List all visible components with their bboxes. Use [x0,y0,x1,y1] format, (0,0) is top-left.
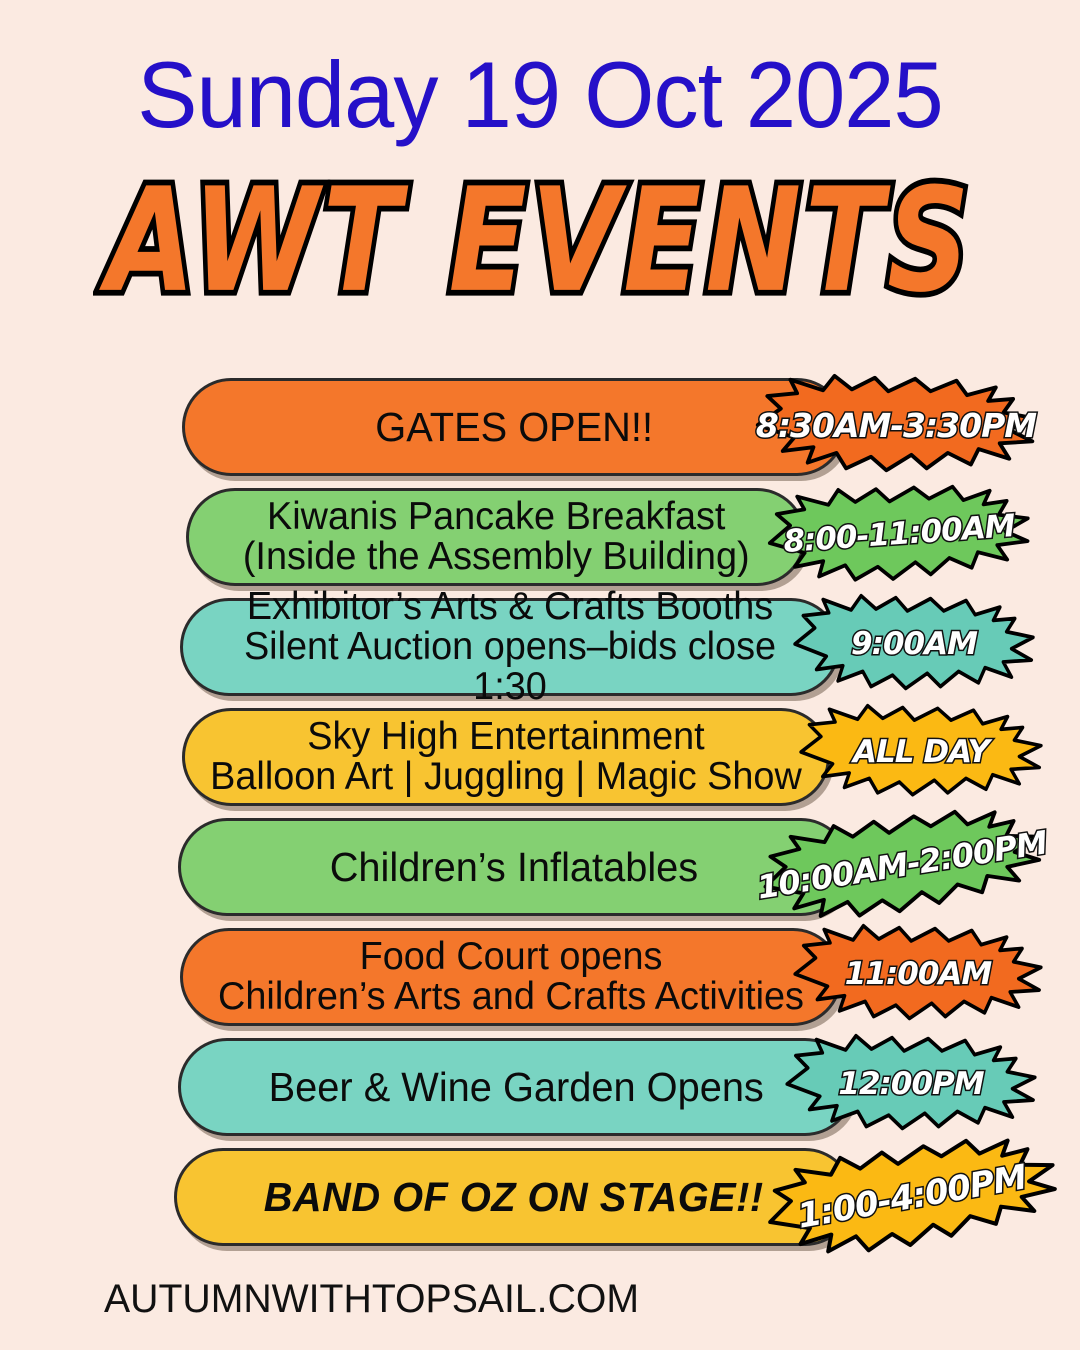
time-badge: 10:00AM-2:00PM [751,790,1052,940]
schedule-label: Exhibitor’s Arts & Crafts Booths Silent … [193,587,827,707]
burst-shape-icon [782,1032,1040,1136]
schedule-pill: Beer & Wine Garden Opens [178,1038,854,1136]
burst-shape-icon [755,1117,1070,1277]
burst-shape-icon [790,922,1046,1026]
time-badge: 8:30AM-3:30PM [752,372,1040,478]
burst-shape-icon [752,372,1040,478]
schedule-pill: Children’s Inflatables [178,818,850,916]
schedule-list: GATES OPEN!!8:30AM-3:30PMKiwanis Pancake… [0,378,1080,1258]
schedule-row: Exhibitor’s Arts & Crafts Booths Silent … [0,598,1080,696]
burst-shape-icon [790,592,1038,696]
schedule-label: GATES OPEN!! [362,406,667,448]
schedule-row: Children’s Inflatables10:00AM-2:00PM [0,818,1080,916]
website-url: AUTUMNWITHTOPSAIL.COM [104,1277,639,1322]
burst-shape-icon [796,702,1046,802]
schedule-pill: Food Court opens Children’s Arts and Cra… [180,928,842,1026]
time-badge: 8:00-11:00AM [761,473,1038,596]
time-badge: ALL DAY [796,702,1046,802]
time-badge: 11:00AM [790,922,1046,1026]
schedule-row: BAND OF OZ ON STAGE!!1:00-4:00PM [0,1148,1080,1246]
schedule-label: BAND OF OZ ON STAGE!! [250,1176,777,1218]
schedule-pill: BAND OF OZ ON STAGE!! [174,1148,854,1246]
burst-shape-icon [761,473,1038,596]
schedule-row: Sky High Entertainment Balloon Art | Jug… [0,708,1080,806]
time-badge: 1:00-4:00PM [755,1117,1070,1277]
schedule-pill: Kiwanis Pancake Breakfast (Inside the As… [186,488,806,586]
schedule-pill: Sky High Entertainment Balloon Art | Jug… [182,708,830,806]
schedule-label: Food Court opens Children’s Arts and Cra… [204,937,817,1017]
schedule-row: Food Court opens Children’s Arts and Cra… [0,928,1080,1026]
schedule-label: Children’s Inflatables [316,846,712,888]
schedule-pill: GATES OPEN!! [182,378,846,476]
schedule-row: Beer & Wine Garden Opens12:00PM [0,1038,1080,1136]
burst-shape-icon [751,790,1052,940]
schedule-label: Kiwanis Pancake Breakfast (Inside the As… [229,497,763,577]
schedule-row: Kiwanis Pancake Breakfast (Inside the As… [0,488,1080,586]
time-badge: 12:00PM [782,1032,1040,1136]
schedule-label: Beer & Wine Garden Opens [255,1066,777,1108]
schedule-label: Sky High Entertainment Balloon Art | Jug… [197,717,816,797]
event-date: Sunday 19 Oct 2025 [22,48,1059,142]
page-title: AWT EVENTS [0,158,1080,324]
time-badge: 9:00AM [790,592,1038,696]
schedule-row: GATES OPEN!!8:30AM-3:30PM [0,378,1080,476]
schedule-pill: Exhibitor’s Arts & Crafts Booths Silent … [180,598,840,696]
